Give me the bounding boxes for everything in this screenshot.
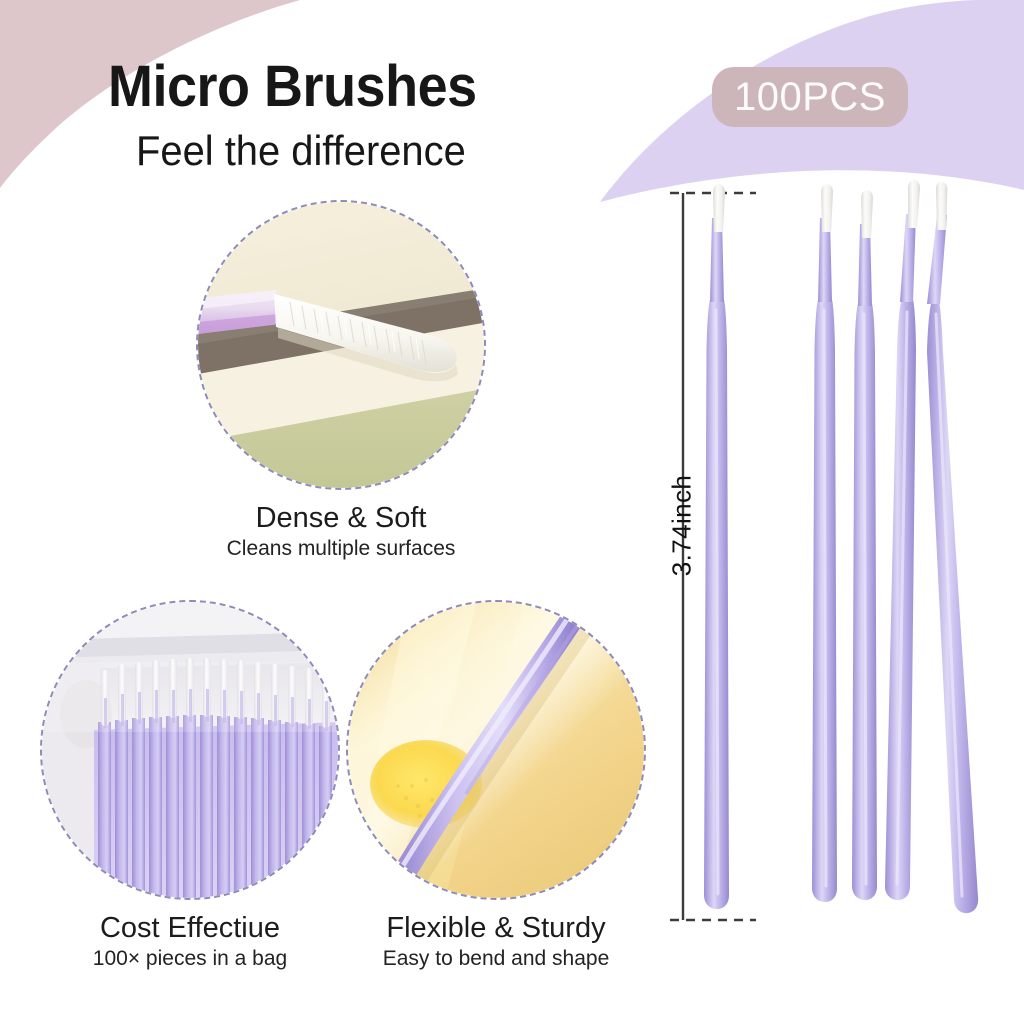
feature-flexible-sturdy-description: Easy to bend and shape — [346, 946, 646, 971]
feature-cost-effective-photo — [40, 600, 340, 900]
feature-flexible-sturdy-caption: Flexible & Sturdy Easy to bend and shape — [346, 912, 646, 972]
feature-cost-effective-caption: Cost Effectiue 100× pieces in a bag — [40, 912, 340, 972]
bag-of-brushes-illustration — [42, 602, 338, 898]
header-title-block: Micro Brushes Feel the difference — [108, 58, 708, 172]
feature-dense-soft-caption: Dense & Soft Cleans multiple surfaces — [196, 502, 486, 562]
page-title: Micro Brushes — [108, 58, 666, 116]
feature-dense-soft-description: Cleans multiple surfaces — [196, 536, 486, 561]
feature-flexible-sturdy-photo — [346, 600, 646, 900]
brush-4 — [885, 180, 920, 900]
feature-flexible-sturdy-title: Flexible & Sturdy — [346, 912, 646, 944]
feature-dense-soft: Dense & Soft Cleans multiple surfaces — [196, 200, 486, 562]
feature-cost-effective-description: 100× pieces in a bag — [40, 946, 340, 971]
brush-3 — [852, 190, 877, 900]
feature-cost-effective-title: Cost Effectiue — [40, 912, 340, 944]
feature-dense-soft-photo — [196, 200, 486, 490]
brush-2 — [812, 184, 837, 902]
page-subtitle: Feel the difference — [136, 130, 679, 172]
micro-brushes-group — [640, 170, 1024, 960]
bending-brush-illustration — [348, 602, 644, 898]
quantity-badge-label: 100PCS — [734, 77, 886, 117]
brush-measured — [704, 184, 729, 909]
brush-5-diagonal — [927, 181, 978, 913]
feature-dense-soft-title: Dense & Soft — [196, 502, 486, 534]
feature-cost-effective: Cost Effectiue 100× pieces in a bag — [40, 600, 340, 972]
feature-flexible-sturdy: Flexible & Sturdy Easy to bend and shape — [346, 600, 646, 972]
quantity-badge: 100PCS — [712, 67, 908, 127]
infographic-page: Micro Brushes Feel the difference 100PCS — [0, 0, 1024, 1024]
product-brushes-illustration — [640, 170, 1024, 960]
brush-tip-closeup-illustration — [198, 202, 484, 488]
